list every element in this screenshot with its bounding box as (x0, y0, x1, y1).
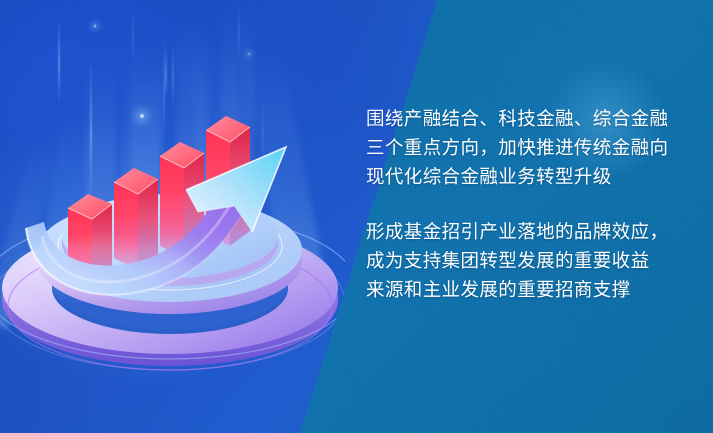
disc-haze (22, 240, 194, 296)
paragraph-1-line-1: 围绕产融结合、科技金融、综合金融 (366, 104, 686, 133)
paragraph-2-line-1: 形成基金招引产业落地的品牌效应， (366, 217, 686, 246)
paragraph-1-line-3: 现代化综合金融业务转型升级 (366, 162, 686, 191)
paragraph-2-line-2: 成为支持集团转型发展的重要收益 (366, 246, 686, 275)
promotional-banner: 围绕产融结合、科技金融、综合金融 三个重点方向，加快推进传统金融向 现代化综合金… (0, 0, 713, 433)
paragraph-2: 形成基金招引产业落地的品牌效应， 成为支持集团转型发展的重要收益 来源和主业发展… (366, 217, 686, 304)
paragraph-1-line-2: 三个重点方向，加快推进传统金融向 (366, 133, 686, 162)
paragraph-1: 围绕产融结合、科技金融、综合金融 三个重点方向，加快推进传统金融向 现代化综合金… (366, 104, 686, 191)
isometric-growth-chart-illustration (0, 0, 345, 433)
copy-block: 围绕产融结合、科技金融、综合金融 三个重点方向，加快推进传统金融向 现代化综合金… (366, 104, 686, 304)
paragraph-2-line-3: 来源和主业发展的重要招商支撑 (366, 275, 686, 304)
